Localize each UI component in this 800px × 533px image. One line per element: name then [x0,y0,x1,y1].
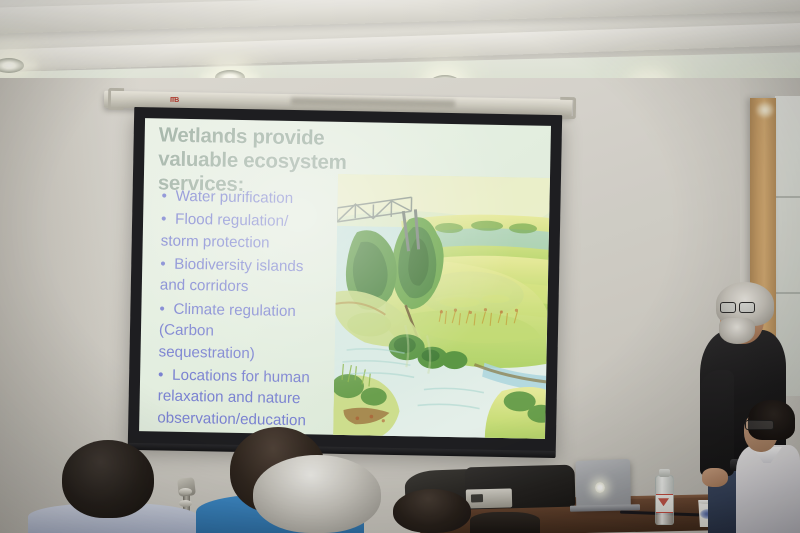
downlight-1-flare [0,63,38,68]
glass-mullion [775,196,800,198]
bullet-text: Water purification [175,188,293,207]
projection-screen[interactable]: Wetlands provide valuable ecosystem serv… [128,107,562,453]
bullet-text: storm protection [161,231,361,255]
bullet-text: observation/education [157,408,357,432]
bullet-marker: • [160,255,174,276]
microphone-node [179,500,192,507]
bullet-text: relaxation and nature [158,387,358,411]
bullet-text: (Carbon [159,321,359,345]
bullet-text: Flood regulation/ [175,211,288,230]
slide-content: Wetlands provide valuable ecosystem serv… [139,118,551,439]
bullet-marker: • [161,210,175,231]
attendee-front-gray-head [253,455,381,533]
bullet-marker: • [158,365,172,386]
bullet-marker: • [159,299,173,320]
list-item: •Locations for human [158,365,358,389]
eyeglasses-icon [720,302,756,311]
apple-logo-icon [595,482,605,493]
bullet-text: Locations for human [172,367,310,387]
eyeglasses-icon [745,420,774,430]
microphone-node [179,488,192,495]
attendee-front-far-head [470,512,540,533]
presentation-room-photo: ITB Wetlands provide valuable ecosystem … [0,0,800,533]
attendee-front-dark-head [393,489,471,533]
presenter-hand [702,468,728,487]
bullet-text: Biodiversity islands [174,256,303,275]
water-bottle-table[interactable] [655,475,674,525]
bullet-marker: • [161,186,175,207]
list-item: •Climate regulation [159,299,359,323]
housing-brand-label: ITB [170,97,186,103]
screen-bracket-right [560,97,576,119]
bottle-cap [659,469,670,477]
attendee-front-left-head [62,440,154,518]
presenter-arm [700,370,734,476]
column-light-reflection [756,102,774,118]
projector-unit [466,488,512,508]
list-item: •Water purification [161,186,361,210]
glass-mullion [775,292,800,294]
bullet-text: Climate regulation [173,301,296,320]
wetland-watercolor-illustration [333,174,550,439]
screen-bracket-left [108,88,124,110]
bottle-label [656,494,673,512]
presenter-beard [719,318,755,344]
list-item: •Biodiversity islands [160,255,360,279]
list-item: •Flood regulation/ [161,210,361,234]
bullet-text: and corridors [160,276,360,300]
bullet-text: sequestration) [158,342,358,366]
slide-bullet-list: •Water purification •Flood regulation/ s… [157,186,362,435]
